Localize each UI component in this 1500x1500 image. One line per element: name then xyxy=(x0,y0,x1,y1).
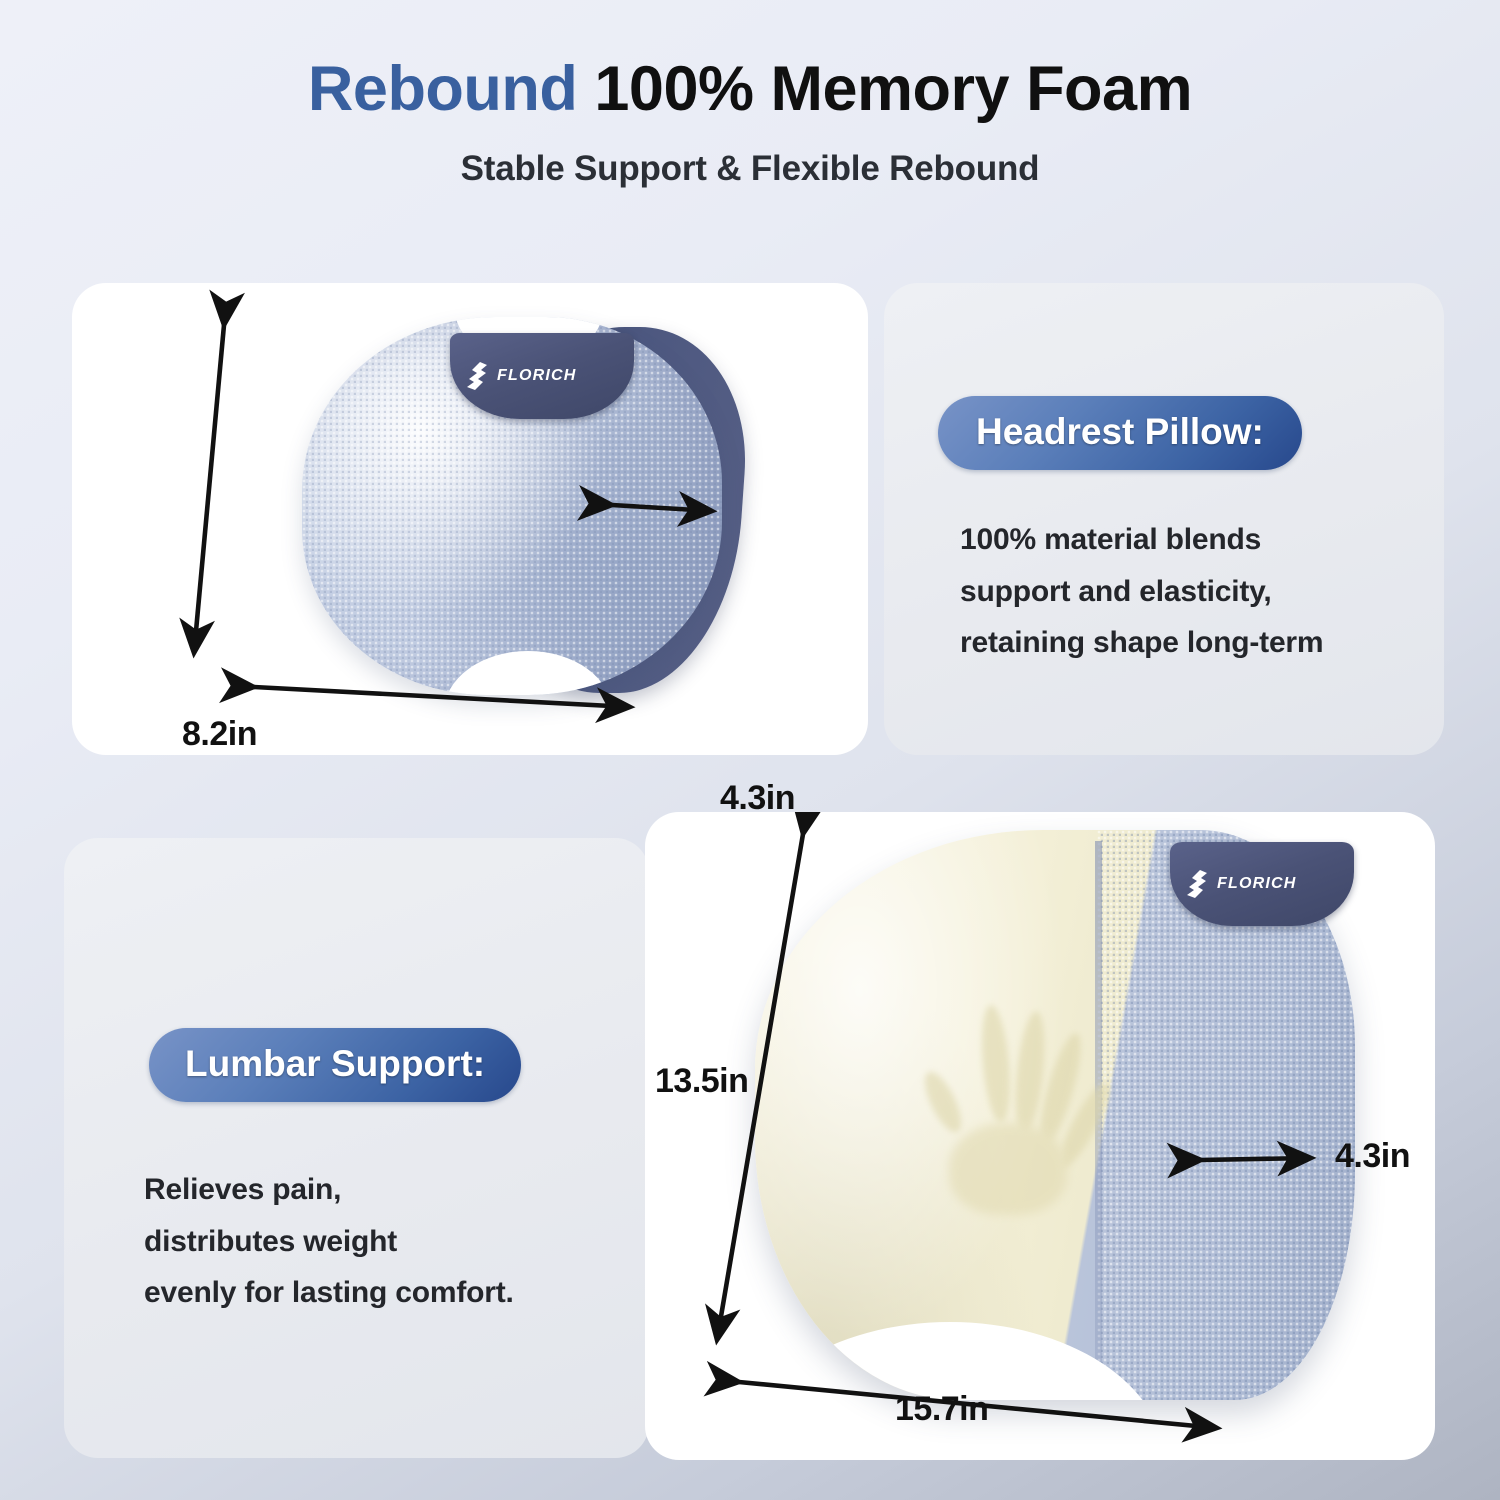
headrest-dimension-arrows xyxy=(72,283,868,755)
title-rest: 100% Memory Foam xyxy=(577,54,1192,124)
title-highlight: Rebound xyxy=(308,54,577,124)
headrest-description-line-1: 100% material blends xyxy=(960,514,1323,566)
headrest-description-line-2: support and elasticity, xyxy=(960,566,1323,618)
page-subtitle: Stable Support & Flexible Rebound xyxy=(0,149,1500,189)
headrest-description: 100% material blends support and elastic… xyxy=(960,514,1323,669)
headrest-text-card: Headrest Pillow: 100% material blends su… xyxy=(884,283,1444,755)
lumbar-description: Relieves pain, distributes weight evenly… xyxy=(144,1164,514,1319)
lumbar-product-card: FLORICH 13.5in 15.7in 4.3in xyxy=(645,812,1435,1460)
lumbar-description-line-3: evenly for lasting comfort. xyxy=(144,1267,514,1319)
headrest-product-card: FLORICH 8.2in 11.0in 4.3in xyxy=(72,283,868,755)
lumbar-description-line-1: Relieves pain, xyxy=(144,1164,514,1216)
lumbar-badge: Lumbar Support: xyxy=(149,1028,521,1102)
page-header: Rebound 100% Memory Foam Stable Support … xyxy=(0,56,1500,189)
headrest-description-line-3: retaining shape long-term xyxy=(960,617,1323,669)
lumbar-text-card: Lumbar Support: Relieves pain, distribut… xyxy=(64,838,649,1458)
headrest-badge: Headrest Pillow: xyxy=(938,396,1302,470)
lumbar-dimension-arrows xyxy=(645,812,1435,1460)
lumbar-description-line-2: distributes weight xyxy=(144,1216,514,1268)
page-title: Rebound 100% Memory Foam xyxy=(0,56,1500,122)
